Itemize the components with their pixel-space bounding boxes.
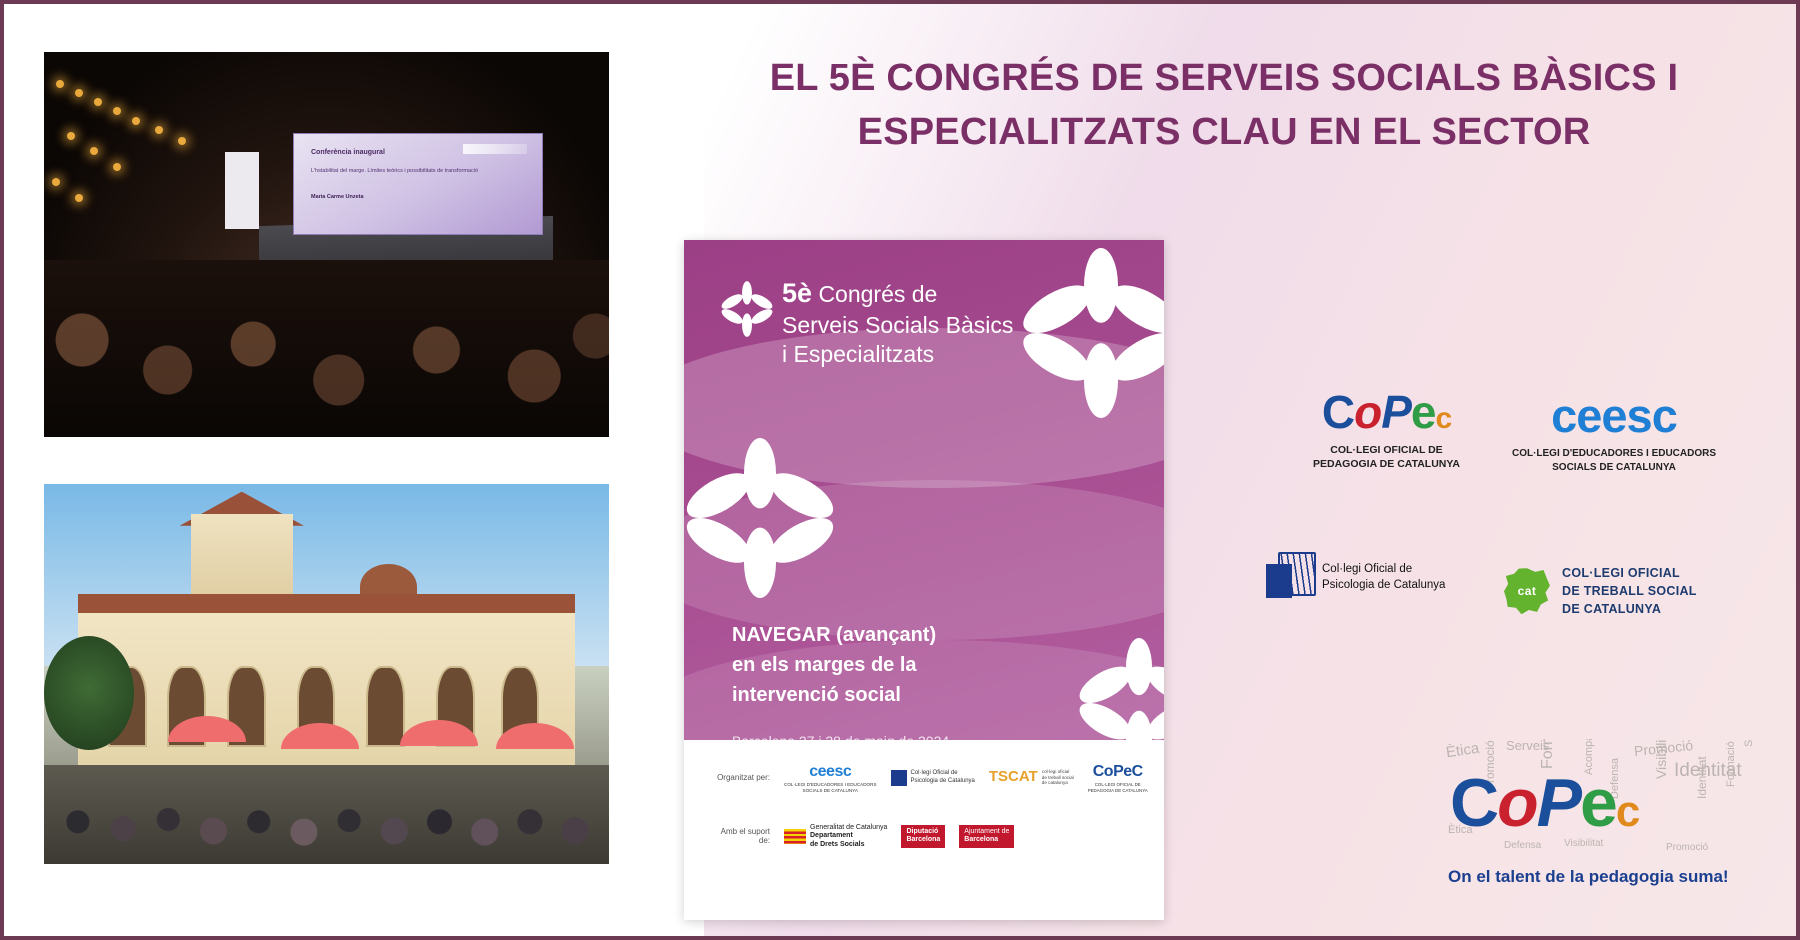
ceesc-wordmark: ceesc [784, 762, 877, 782]
roofline [78, 594, 575, 613]
logo-psicologia: Col·legi Oficial de Psicologia de Catalu… [1262, 552, 1492, 604]
diputacio-line-2: Barcelona [906, 836, 940, 843]
asterisk-icon [716, 278, 778, 340]
copec-letter-c2: c [1435, 402, 1451, 435]
asterisk-icon [1016, 248, 1164, 418]
generalitat-line-1: Generalitat de Catalunya [810, 824, 887, 831]
ajuntament-line-1: Ajuntament de [964, 828, 1009, 835]
ceesc-subtitle-line-2: SOCIALS DE CATALUNYA [1499, 461, 1729, 475]
logo-ceesc: ceesc COL·LEGI D'EDUCADORES I EDUCADORS … [1499, 392, 1729, 474]
slide-title: Conferència inaugural [311, 148, 385, 159]
cloud-word: Promoció [1666, 843, 1708, 854]
tscat-wordmark: TSCAT [989, 768, 1038, 787]
copec-letter-o: o [1497, 765, 1537, 841]
audience-crowd [44, 260, 609, 437]
psicologia-mark-icon [1262, 552, 1314, 604]
tscat-gear-icon: cat [1504, 568, 1550, 614]
copec-letter-c1: C [1322, 386, 1354, 438]
tscat-subtitle: col·legi oficial de treball social de ca… [1042, 769, 1074, 786]
ceesc-subtitle: COL·LEGI D'EDUCADORES I EDUCADORS SOCIAL… [1499, 447, 1729, 474]
slide-canvas: EL 5È CONGRÉS DE SERVEIS SOCIALS BÀSICS … [0, 0, 1800, 940]
organizers-row: Organitzat per: ceesc COL·LEGI D'EDUCADO… [708, 762, 1150, 793]
organized-by-label: Organitzat per: [708, 773, 770, 782]
ceesc-wordmark: ceesc [1499, 392, 1729, 439]
supporter-generalitat: Generalitat de Catalunya Departament de … [784, 824, 887, 849]
copec-subtitle: COL·LEGI OFICIAL DE PEDAGOGIA DE CATALUN… [1279, 443, 1494, 471]
stage-lights [44, 52, 236, 206]
poster-date: Barcelona 27 i 28 de maig de 2024 [732, 733, 949, 740]
support-label: Amb el suport de: [708, 827, 770, 845]
ceesc-subtitle: COL·LEGI D'EDUCADORES I EDUCADORS SOCIAL… [784, 782, 877, 793]
supporter-diputacio: Diputació Barcelona [901, 825, 945, 848]
copec-wordmark: CoPeC [1088, 762, 1148, 782]
poster-title-line-3: i Especialitzats [782, 340, 1013, 369]
presentation-screen: Conferència inaugural L'hstabilitat del … [293, 133, 544, 235]
copec-letter-e: e [1411, 386, 1436, 438]
copec-letter-o: o [1354, 386, 1381, 438]
asterisk-icon [1074, 638, 1164, 740]
psicologia-line-2: Psicologia de Catalunya [1322, 578, 1445, 594]
organizer-logo-tscat: TSCAT col·legi oficial de treball social… [989, 768, 1074, 787]
organizer-logo-psicologia: Col·legi Oficial de Psicologia de Catalu… [891, 770, 975, 786]
copec-letter-c1: C [1450, 765, 1497, 841]
copec-wordmark: CoPec [1450, 769, 1774, 837]
poster-title: 5è Congrés de Serveis Socials Bàsics i E… [782, 276, 1013, 369]
copec-letter-p: P [1381, 386, 1411, 438]
poster-title-line-2: Serveis Socials Bàsics [782, 311, 1013, 340]
copec-letter-p: P [1537, 765, 1580, 841]
copec-subtitle-line-2: PEDAGOGIA DE CATALUNYA [1279, 457, 1494, 471]
poster-footer: Organitzat per: ceesc COL·LEGI D'EDUCADO… [684, 740, 1164, 920]
organizer-logo-ceesc: ceesc COL·LEGI D'EDUCADORES I EDUCADORS … [784, 762, 877, 793]
poster-title-number: 5è [782, 278, 812, 308]
copec-letter-e: e [1580, 765, 1616, 841]
poster-title-line-1: Congrés de [818, 281, 937, 307]
screen-logo [463, 144, 528, 154]
slide-speaker: Maria Carme Unzeta [311, 194, 364, 200]
tree [44, 636, 134, 750]
logo-copec-wordcloud: Ètica Serveis Promoció Identitat Formaci… [1444, 739, 1774, 909]
tscat-text: COL·LEGI OFICIAL DE TREBALL SOCIAL DE CA… [1562, 564, 1697, 618]
cloud-word: Serveis [1744, 739, 1756, 747]
organizer-logo-copec: CoPeC COL·LEGI OFICIAL DE PEDAGOGIA DE C… [1088, 762, 1148, 793]
poster-claim-line-1: NAVEGAR (avançant) [732, 620, 936, 650]
psicologia-line-1: Col·legi Oficial de [1322, 562, 1445, 578]
auditorium-photo: Conferència inaugural L'hstabilitat del … [44, 52, 609, 437]
copec-subtitle-line-1: COL·LEGI OFICIAL DE [1279, 443, 1494, 457]
copec-wordmark: CoPec [1279, 389, 1494, 435]
psicologia-text: Col·legi Oficial de Psicologia de Catalu… [1322, 562, 1445, 593]
logo-tscat: cat COL·LEGI OFICIAL DE TREBALL SOCIAL D… [1504, 564, 1697, 618]
congress-poster: 5è Congrés de Serveis Socials Bàsics i E… [684, 240, 1164, 920]
tscat-line-2: DE TREBALL SOCIAL [1562, 582, 1697, 600]
logo-copec: CoPec COL·LEGI OFICIAL DE PEDAGOGIA DE C… [1279, 389, 1494, 471]
tscat-mark-text: cat [1518, 584, 1537, 598]
asterisk-icon [684, 438, 840, 598]
poster-claim-line-3: intervenció social [732, 680, 936, 710]
headline-line-1: EL 5È CONGRÉS DE SERVEIS SOCIALS BÀSICS … [694, 52, 1754, 106]
ceesc-subtitle-line-1: COL·LEGI D'EDUCADORES I EDUCADORS [1499, 447, 1729, 461]
poster-purple-area: 5è Congrés de Serveis Socials Bàsics i E… [684, 240, 1164, 740]
copec-letter-c2: c [1616, 787, 1638, 836]
poster-claim-line-2: en els marges de la [732, 650, 936, 680]
psicologia-subtitle: Col·legi Oficial de Psicologia de Catalu… [911, 770, 975, 785]
generalitat-line-2: Departament [810, 832, 853, 839]
diputacio-line-1: Diputació [906, 828, 938, 835]
stage-banner [225, 152, 259, 229]
psicologia-mark-icon [891, 770, 907, 786]
poster-claim: NAVEGAR (avançant) en els marges de la i… [732, 620, 936, 710]
catalonia-flag-icon [784, 829, 806, 844]
supporters-row: Amb el suport de: Generalitat de Catalun… [708, 824, 1150, 849]
cloud-word: Ètica [1445, 741, 1480, 761]
tscat-line-1: COL·LEGI OFICIAL [1562, 564, 1697, 582]
queue-of-people [44, 742, 609, 856]
copec-tagline: On el talent de la pedagogia suma! [1448, 867, 1729, 887]
copec-subtitle: COL·LEGI OFICIAL DE PEDAGOGIA DE CATALUN… [1088, 782, 1148, 793]
cloud-word: Defensa [1504, 841, 1541, 852]
ajuntament-line-2: Barcelona [964, 836, 998, 843]
generalitat-line-3: de Drets Socials [810, 841, 864, 848]
headline-line-2: ESPECIALITZATS CLAU EN EL SECTOR [694, 106, 1754, 160]
tscat-line-3: DE CATALUNYA [1562, 600, 1697, 618]
building-photo [44, 484, 609, 864]
supporter-ajuntament: Ajuntament de Barcelona [959, 825, 1014, 848]
slide-subtitle: L'hstabilitat del marge. Límites teòrics… [311, 167, 478, 176]
page-title: EL 5È CONGRÉS DE SERVEIS SOCIALS BÀSICS … [694, 52, 1754, 160]
